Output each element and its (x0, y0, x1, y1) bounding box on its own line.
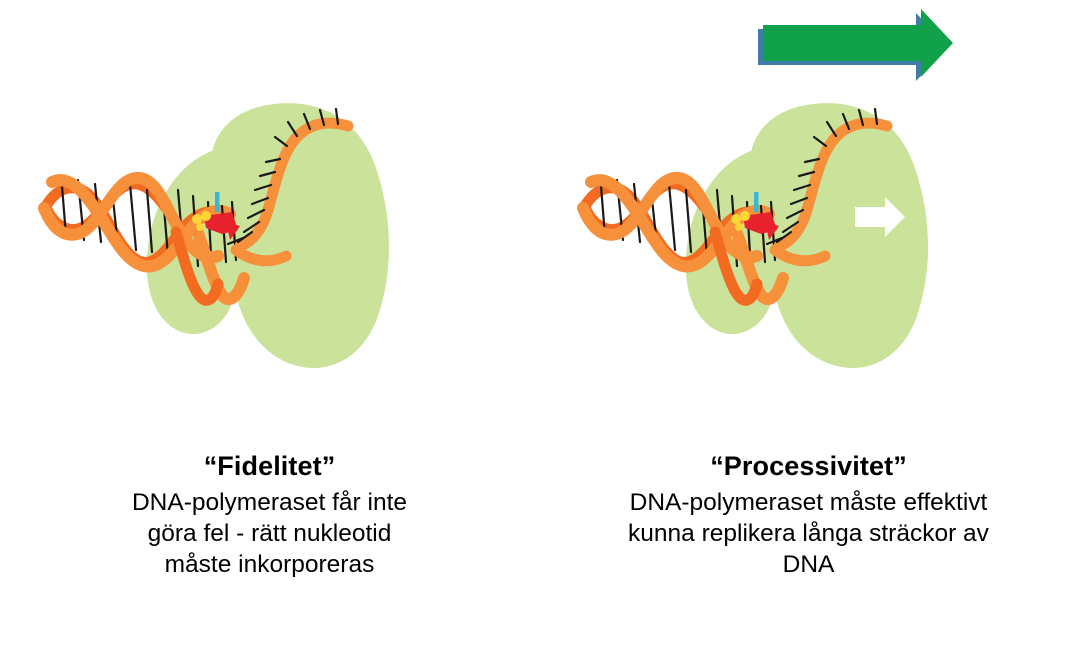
caption-line: kunna replikera långa sträckor av (594, 518, 1024, 549)
caption-fidelity: “Fidelitet” DNA-polymeraset får inte gör… (0, 448, 539, 580)
panel-fidelity: “Fidelitet” DNA-polymeraset får inte gör… (0, 0, 539, 666)
caption-line: DNA-polymeraset får inte (55, 487, 485, 518)
caption-line: DNA (594, 549, 1024, 580)
caption-line: göra fel - rätt nukleotid (55, 518, 485, 549)
caption-body: DNA-polymeraset måste effektivt kunna re… (594, 487, 1024, 580)
polymerase-illustration-fidelity (0, 10, 539, 430)
motion-arrow (758, 9, 953, 81)
caption-body: DNA-polymeraset får inte göra fel - rätt… (55, 487, 485, 580)
caption-line: måste inkorporeras (55, 549, 485, 580)
caption-line: DNA-polymeraset måste effektivt (594, 487, 1024, 518)
slide-canvas: “Fidelitet” DNA-polymeraset får inte gör… (0, 0, 1078, 666)
panel-processivity: “Processivitet” DNA-polymeraset måste ef… (539, 0, 1078, 666)
caption-title: “Fidelitet” (0, 448, 539, 484)
caption-processivity: “Processivitet” DNA-polymeraset måste ef… (539, 448, 1078, 580)
polymerase-illustration-processivity (539, 10, 1078, 430)
caption-title: “Processivitet” (539, 448, 1078, 484)
